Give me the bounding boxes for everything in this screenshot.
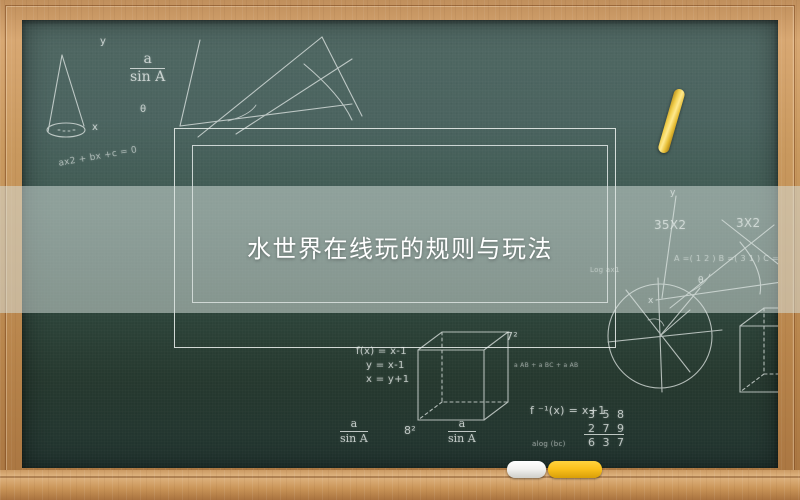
yellow-chalk-stick-ledge	[548, 461, 602, 478]
chalk-axis-label-y-topleft: y	[100, 36, 106, 47]
page-title: 水世界在线玩的规则与玩法	[0, 229, 800, 264]
chalk-axis-label-x-topleft: x	[92, 122, 98, 133]
chalk-subtraction-result: 6 3 7	[588, 436, 626, 449]
chalk-subtraction-rule	[584, 434, 624, 435]
chalk-fraction-bottom-mid: a sin A	[448, 418, 476, 444]
white-chalk-stick	[507, 461, 546, 478]
chalk-function-line-3: x = y+1	[366, 374, 409, 385]
chalkboard-banner-screen: a sin A y x θ ax2 + bx +c = 0 y x θ f(x)…	[0, 0, 800, 500]
chalk-angle-label-topleft: θ	[140, 104, 146, 115]
chalk-subtraction-minuend: 3 5 8	[588, 408, 626, 421]
chalk-power-label-8: 8²	[404, 424, 416, 437]
chalk-small-expression: a AB + a BC + a AB	[514, 362, 578, 369]
chalk-fraction-top-left: a sin A	[130, 52, 165, 84]
chalk-function-line-2: y = x-1	[366, 360, 405, 371]
chalk-ledge	[0, 470, 800, 500]
chalk-fraction-bottom-left: a sin A	[340, 418, 368, 444]
chalk-log-note-2: alog (bc)	[532, 440, 566, 448]
ledge-lip	[0, 476, 800, 478]
